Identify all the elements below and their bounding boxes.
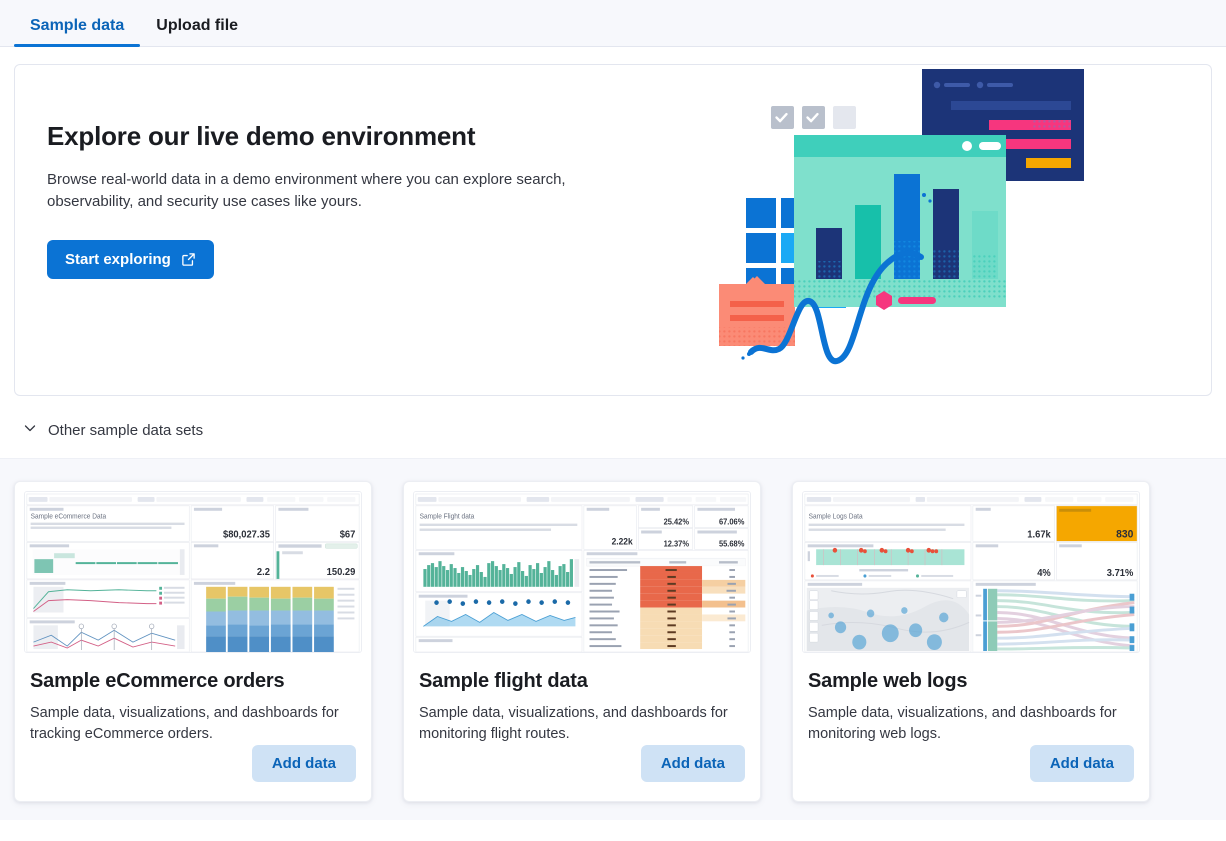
card-description: Sample data, visualizations, and dashboa… [808, 703, 1134, 745]
svg-text:Sample Logs Data: Sample Logs Data [809, 514, 863, 521]
card-title: Sample web logs [808, 670, 1134, 693]
card-footer: Add data [15, 745, 371, 801]
svg-text:2.2: 2.2 [257, 567, 270, 578]
analytics-dashboard-illustration [708, 65, 1098, 396]
hero-description: Browse real-world data in a demo environ… [47, 169, 572, 213]
sample-data-cards-region: Sample eCommerce Data $80,027.35 $67 [0, 458, 1226, 820]
card-body: Sample web logs Sample data, visualizati… [793, 653, 1149, 745]
tab-upload-file-label: Upload file [156, 17, 238, 34]
card-description: Sample data, visualizations, and dashboa… [30, 703, 356, 745]
external-link-icon [181, 252, 196, 267]
svg-text:$80,027.35: $80,027.35 [223, 529, 271, 540]
page-title: Explore our live demo environment [47, 121, 587, 152]
svg-text:$67: $67 [340, 529, 356, 540]
card-body: Sample eCommerce orders Sample data, vis… [15, 653, 371, 745]
svg-text:830: 830 [1116, 528, 1133, 540]
svg-text:150.29: 150.29 [327, 567, 356, 578]
hero-panel: Explore our live demo environment Browse… [14, 64, 1212, 396]
start-exploring-label: Start exploring [65, 251, 171, 268]
svg-text:4%: 4% [1037, 568, 1051, 579]
svg-text:12.37%: 12.37% [664, 539, 690, 548]
ecommerce-dashboard-thumbnail: Sample eCommerce Data $80,027.35 $67 [24, 491, 362, 653]
card-body: Sample flight data Sample data, visualiz… [404, 653, 760, 745]
card-description: Sample data, visualizations, and dashboa… [419, 703, 745, 745]
tab-sample-data-label: Sample data [30, 17, 124, 34]
card-sample-ecommerce-orders[interactable]: Sample eCommerce Data $80,027.35 $67 [14, 481, 372, 802]
tab-sample-data[interactable]: Sample data [14, 18, 140, 46]
svg-text:2.22k: 2.22k [612, 536, 633, 546]
svg-text:55.68%: 55.68% [719, 539, 745, 548]
add-data-button[interactable]: Add data [1030, 745, 1134, 782]
card-title: Sample eCommerce orders [30, 670, 356, 693]
add-data-button[interactable]: Add data [252, 745, 356, 782]
hero-section: Explore our live demo environment Browse… [0, 47, 1226, 396]
other-sample-data-sets-label: Other sample data sets [48, 422, 203, 439]
svg-text:67.06%: 67.06% [719, 517, 745, 526]
svg-text:3.71%: 3.71% [1107, 568, 1134, 579]
card-sample-flight-data[interactable]: Sample Flight data 2.22k 25.42% 67.06% [403, 481, 761, 802]
start-exploring-button[interactable]: Start exploring [47, 240, 214, 279]
card-footer: Add data [404, 745, 760, 801]
card-footer: Add data [793, 745, 1149, 801]
tab-upload-file[interactable]: Upload file [140, 18, 254, 46]
tab-bar: Sample data Upload file [0, 0, 1226, 47]
card-sample-web-logs[interactable]: Sample Logs Data 1.67k 830 [792, 481, 1150, 802]
svg-text:Sample eCommerce Data: Sample eCommerce Data [31, 514, 107, 521]
card-title: Sample flight data [419, 670, 745, 693]
other-sample-data-sets-toggle[interactable]: Other sample data sets [0, 396, 1226, 458]
add-data-button[interactable]: Add data [641, 745, 745, 782]
chevron-down-icon [22, 420, 38, 440]
svg-text:1.67k: 1.67k [1027, 529, 1051, 540]
svg-text:25.42%: 25.42% [664, 517, 690, 526]
flight-dashboard-thumbnail: Sample Flight data 2.22k 25.42% 67.06% [413, 491, 751, 653]
sample-data-card-list: Sample eCommerce Data $80,027.35 $67 [14, 481, 1212, 802]
svg-text:Sample Flight data: Sample Flight data [420, 514, 475, 521]
weblogs-dashboard-thumbnail: Sample Logs Data 1.67k 830 [802, 491, 1140, 653]
hero-text-block: Explore our live demo environment Browse… [47, 121, 587, 279]
